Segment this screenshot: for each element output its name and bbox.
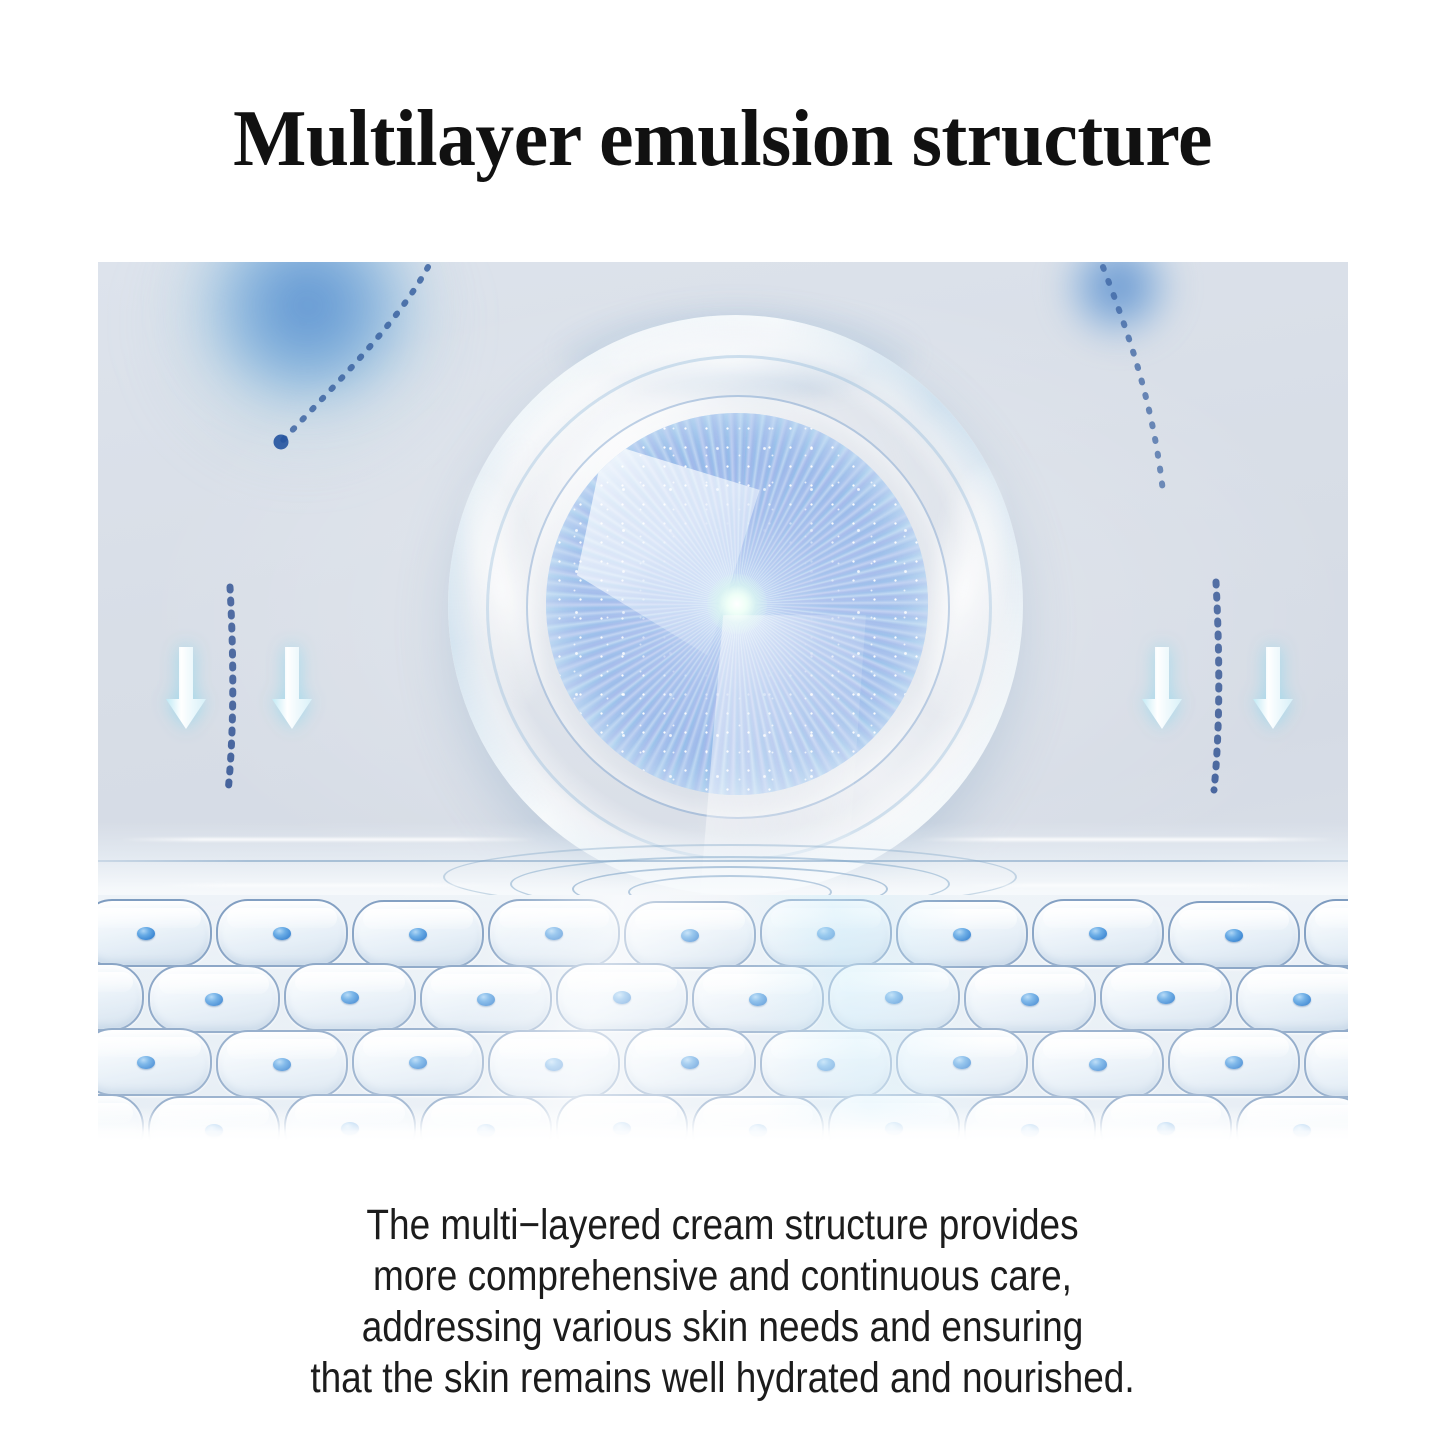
- cell-nucleus: [341, 1122, 359, 1135]
- cell-nucleus: [1225, 929, 1243, 942]
- skin-cell: [1304, 899, 1348, 967]
- water-streak: [158, 884, 498, 887]
- skin-cell: [1100, 1094, 1232, 1140]
- cell-nucleus: [273, 1058, 291, 1071]
- cell-nucleus: [1157, 1122, 1175, 1135]
- cell-nucleus: [885, 1122, 903, 1135]
- skin-cell: [216, 899, 348, 967]
- cell-nucleus: [137, 1056, 155, 1069]
- skin-cell: [352, 1028, 484, 1096]
- skin-cell: [98, 899, 212, 967]
- cell-nucleus: [477, 1124, 495, 1137]
- cell-nucleus: [1089, 927, 1107, 940]
- cell-nucleus: [817, 1058, 835, 1071]
- caption-line-4: that the skin remains well hydrated and …: [101, 1353, 1344, 1404]
- skin-cell: [352, 900, 484, 968]
- cell-nucleus: [1293, 1124, 1311, 1137]
- cell-nucleus: [1157, 991, 1175, 1004]
- cell-nucleus: [885, 991, 903, 1004]
- cell-nucleus: [613, 991, 631, 1004]
- cell-nucleus: [545, 927, 563, 940]
- cell-nucleus: [1225, 1056, 1243, 1069]
- skin-cell: [964, 965, 1096, 1033]
- cell-nucleus: [341, 991, 359, 1004]
- caption-block: The multi−layered cream structure provid…: [101, 1200, 1344, 1404]
- skin-cell-layer: [98, 895, 1348, 1140]
- skin-cell: [284, 1094, 416, 1140]
- skin-cell: [828, 963, 960, 1031]
- caption-line-3: addressing various skin needs and ensuri…: [101, 1302, 1344, 1353]
- cell-nucleus: [409, 1056, 427, 1069]
- cell-nucleus: [205, 993, 223, 1006]
- cell-nucleus: [953, 928, 971, 941]
- skin-cell: [98, 1094, 144, 1140]
- skin-cell: [1032, 1030, 1164, 1098]
- skin-cell: [148, 1096, 280, 1140]
- skin-cell: [216, 1030, 348, 1098]
- skin-cell: [964, 1096, 1096, 1140]
- cell-nucleus: [817, 927, 835, 940]
- down-arrow-icon: [1140, 647, 1184, 733]
- skin-cell: [624, 901, 756, 969]
- water-streak: [918, 838, 1338, 841]
- down-arrow-icon: [1251, 647, 1295, 733]
- cell-nucleus: [749, 993, 767, 1006]
- water-streak: [118, 838, 538, 841]
- multilayer-emulsion-illustration: [98, 262, 1348, 1140]
- skin-cell: [760, 1030, 892, 1098]
- cell-nucleus: [1021, 1124, 1039, 1137]
- skin-cell: [828, 1094, 960, 1140]
- skin-cell: [98, 1028, 212, 1096]
- skin-cell: [556, 963, 688, 1031]
- skin-cell: [624, 1028, 756, 1096]
- skin-cell: [488, 899, 620, 967]
- caption-line-1: The multi−layered cream structure provid…: [101, 1200, 1344, 1251]
- caption-line-2: more comprehensive and continuous care,: [101, 1251, 1344, 1302]
- down-arrow-icon: [270, 647, 314, 733]
- cell-nucleus: [477, 993, 495, 1006]
- cell-nucleus: [1293, 993, 1311, 1006]
- skin-cell: [1304, 1030, 1348, 1098]
- cell-nucleus: [681, 1056, 699, 1069]
- skin-cell: [420, 965, 552, 1033]
- skin-cell: [1168, 1028, 1300, 1096]
- cell-nucleus: [1089, 1058, 1107, 1071]
- skin-cell: [692, 965, 824, 1033]
- cell-nucleus: [545, 1058, 563, 1071]
- skin-cell: [420, 1096, 552, 1140]
- skin-cell: [1236, 965, 1348, 1033]
- cell-nucleus: [137, 927, 155, 940]
- skin-cell: [148, 965, 280, 1033]
- cell-nucleus: [1021, 993, 1039, 1006]
- skin-cell: [896, 900, 1028, 968]
- skin-cell: [488, 1030, 620, 1098]
- cell-nucleus: [749, 1124, 767, 1137]
- skin-cell: [692, 1096, 824, 1140]
- cell-nucleus: [953, 1056, 971, 1069]
- skin-cell: [1100, 963, 1232, 1031]
- skin-cell: [1032, 899, 1164, 967]
- down-arrow-icon: [164, 647, 208, 733]
- skin-cell: [98, 963, 144, 1031]
- cell-nucleus: [273, 927, 291, 940]
- page-title: Multilayer emulsion structure: [22, 92, 1424, 186]
- cell-nucleus: [613, 1122, 631, 1135]
- skin-cell: [1236, 1096, 1348, 1140]
- skin-cell: [556, 1094, 688, 1140]
- cell-nucleus: [409, 928, 427, 941]
- cell-nucleus: [205, 1124, 223, 1137]
- skin-cell: [760, 899, 892, 967]
- skin-cell: [1168, 901, 1300, 969]
- skin-cell: [896, 1028, 1028, 1096]
- water-streak: [958, 884, 1298, 887]
- cell-nucleus: [681, 929, 699, 942]
- skin-cell: [284, 963, 416, 1031]
